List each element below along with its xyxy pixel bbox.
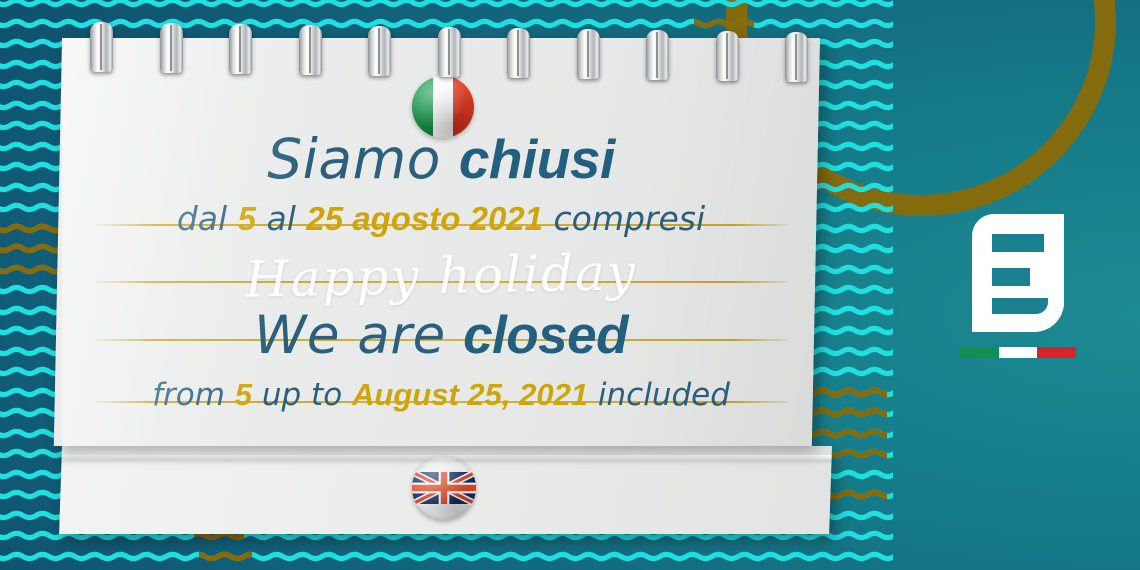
calendar-base [59, 446, 832, 534]
logo-mark [952, 206, 1084, 340]
logo-italy-stripes [960, 347, 1076, 358]
subline-english: from 5 up to August 25, 2021 included [62, 375, 820, 415]
en-part-4: included [588, 377, 730, 413]
headline-italian-plain: Siamo [267, 127, 459, 191]
headline-english-plain: We are [254, 305, 463, 366]
it-part-3: 25 agosto 2021 [306, 200, 543, 237]
stripe-white [999, 347, 1038, 358]
wave-row [0, 550, 893, 563]
headline-italian: Siamo chiusi [62, 128, 820, 190]
en-part-0: from [152, 377, 235, 413]
stripe-green [960, 347, 999, 358]
it-part-1: 5 [238, 200, 256, 237]
wave-row [0, 17, 893, 30]
base-ridge [62, 455, 832, 460]
en-part-1: 5 [235, 377, 252, 412]
headline-english: We are closed [62, 305, 820, 367]
it-part-0: dal [177, 199, 238, 238]
headline-english-bold: closed [463, 306, 628, 365]
stripe-red [1037, 347, 1076, 358]
headline-italian-bold: chiusi [459, 128, 615, 190]
calendar-page[interactable]: Siamo chiusi dal 5 al 25 agosto 2021 com… [54, 38, 820, 446]
it-part-4: compresi [543, 199, 705, 238]
en-part-2: up to [252, 377, 352, 413]
wave-row [0, 0, 893, 9]
en-part-3: August 25, 2021 [352, 377, 588, 412]
it-part-2: al [256, 199, 306, 238]
subline-italian: dal 5 al 25 agosto 2021 compresi [62, 199, 820, 239]
script-greeting: Happy holiday [61, 239, 820, 314]
fj-monogram-logo [952, 206, 1084, 364]
poster-canvas: Siamo chiusi dal 5 al 25 agosto 2021 com… [0, 0, 1140, 570]
